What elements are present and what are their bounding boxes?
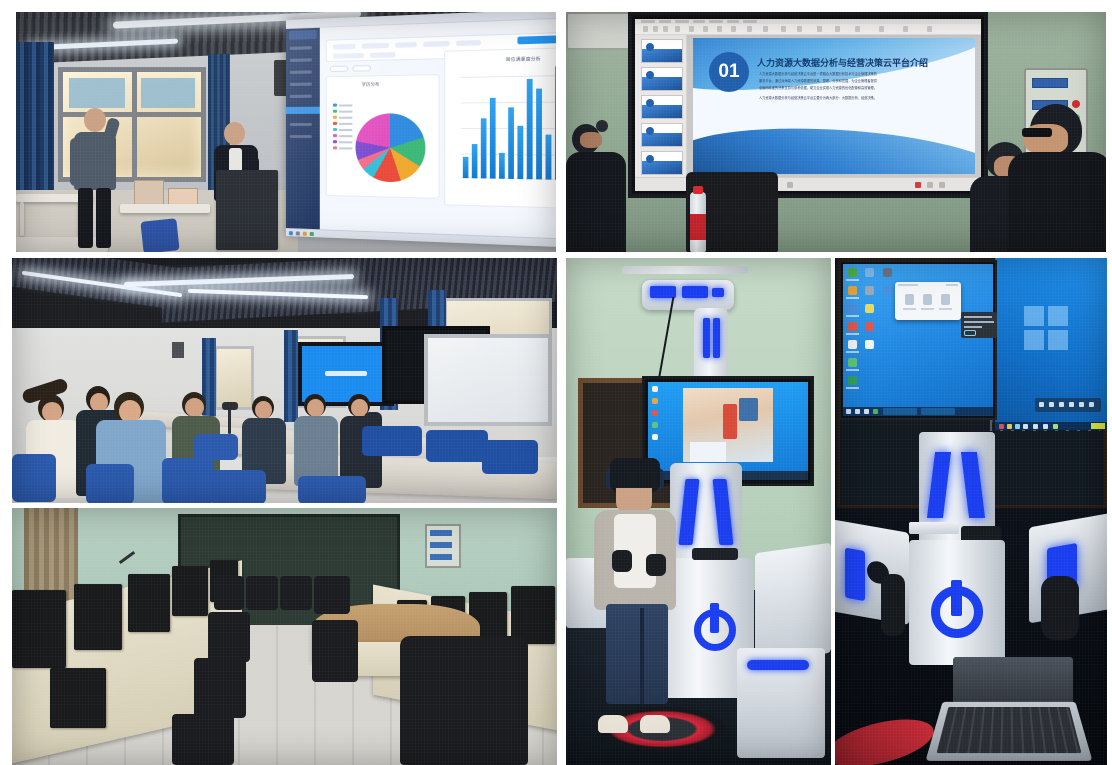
chair	[298, 476, 366, 503]
laptop[interactable]	[925, 702, 1092, 761]
photo-collage: 学历分布 岗位满意度分析	[0, 0, 1112, 765]
photo-seated-audience	[12, 258, 557, 503]
chair-foreground	[400, 636, 528, 765]
water-bottle	[690, 192, 706, 252]
current-slide: 01 人力资源大数据分析与经营决策云平台介绍 人力资源大数据分析与经营决策云平台…	[693, 38, 975, 174]
slide-thumbnail[interactable]	[641, 123, 683, 147]
taskbar-right	[995, 422, 1107, 430]
query-button[interactable]	[517, 35, 556, 44]
person-vr-user	[588, 458, 696, 733]
vr-boom-head	[642, 280, 734, 310]
photo-ppt-presentation: 01 人力资源大数据分析与经营决策云平台介绍 人力资源大数据分析与经营决策云平台…	[566, 12, 1106, 252]
pie-chart	[355, 113, 425, 182]
sidebar-item[interactable]	[290, 46, 312, 50]
blue-chair	[140, 218, 179, 252]
powerpoint-window: 01 人力资源大数据分析与经营决策云平台介绍 人力资源大数据分析与经营决策云平台…	[635, 19, 981, 191]
vr-mirror-view	[683, 388, 773, 462]
platform-right	[737, 648, 825, 758]
slide-body-line-2: 服务平台，通过对海量人力资源数据的采集、整理、分析和挖掘，为企业管理者提供	[759, 79, 961, 84]
photo-computer-lab	[12, 508, 557, 765]
chair	[280, 576, 312, 610]
sidebar-item[interactable]	[290, 83, 312, 86]
slide-body-line-3: 全面而精准的决策支持与参考依据，助力企业实现人力资源的优化配置和高效管理。	[759, 86, 961, 91]
camera	[596, 120, 608, 132]
dashboard-screen: 学历分布 岗位满意度分析	[286, 12, 556, 248]
vr-headset-hanging[interactable]	[1041, 576, 1079, 640]
chair	[214, 576, 244, 610]
sidebar-item[interactable]	[290, 95, 312, 98]
filter-pill[interactable]	[330, 66, 348, 73]
person-left	[566, 124, 638, 252]
slide-thumbnail[interactable]	[641, 39, 683, 63]
ceiling-rail	[622, 266, 748, 274]
person-presenter	[70, 108, 122, 248]
slide-stage: 01 人力资源大数据分析与经营决策云平台介绍 人力资源大数据分析与经营决策云平台…	[687, 35, 981, 177]
floating-toolbar[interactable]	[1035, 398, 1101, 412]
pie-chart-title: 学历分布	[362, 81, 380, 87]
microphone	[222, 402, 238, 410]
vr-setup-dialog[interactable]	[895, 282, 961, 320]
bar-chart-card: 岗位满意度分析	[444, 46, 556, 210]
sidebar-item-active[interactable]	[286, 107, 320, 114]
monitor	[12, 590, 66, 668]
chair	[312, 620, 358, 682]
chair	[172, 714, 234, 765]
vr-controller-left[interactable]	[612, 550, 632, 572]
windows-desktop	[843, 264, 993, 416]
filter-pill[interactable]	[352, 65, 371, 72]
chair	[194, 434, 238, 460]
eyeglasses	[1022, 128, 1052, 137]
vr-brand-logo	[931, 580, 983, 638]
windows-logo	[1024, 306, 1070, 352]
shoe	[640, 715, 670, 733]
slide-body-line-1: 人力资源大数据分析与经营决策云平台是一项融合大数据分析技术与企业管理决策的	[759, 72, 961, 77]
person-right	[1008, 104, 1106, 252]
dashboard-sidebar	[286, 28, 320, 230]
vr-brand-logo	[694, 603, 736, 651]
cardboard-box	[134, 180, 164, 206]
slide-thumbnail[interactable]	[641, 67, 683, 91]
tooltip-popup	[961, 312, 997, 338]
pie-chart-card: 学历分布	[326, 74, 440, 199]
slide-thumbnail-rail[interactable]	[635, 35, 687, 177]
controller-tray	[692, 548, 738, 560]
jeans	[606, 604, 668, 704]
slide-number: 01	[709, 52, 749, 92]
monitor	[74, 584, 122, 650]
desk-leg	[20, 202, 24, 236]
slide-title: 人力资源大数据分析与经营决策云平台介绍	[757, 56, 928, 69]
photo-classroom-dashboard: 学历分布 岗位满意度分析	[16, 12, 556, 252]
slide-thumbnail[interactable]	[641, 151, 683, 175]
sidebar-item[interactable]	[290, 58, 312, 62]
wall-display: 01 人力资源大数据分析与经营决策云平台介绍 人力资源大数据分析与经营决策云平台…	[628, 12, 988, 198]
vr-boom-arm	[694, 308, 728, 384]
keyboard[interactable]	[909, 522, 959, 534]
slide-thumbnail[interactable]	[641, 95, 683, 119]
app-logo	[289, 30, 317, 40]
bar-plot-area	[463, 65, 556, 180]
chair	[426, 430, 488, 462]
chair	[162, 458, 214, 503]
control-panel	[425, 524, 461, 568]
slide-body-line-4: 人力资源大数据分析与经营决策云平台主要分为两大部分：大数据分析、经营决策。	[759, 96, 961, 101]
person-6	[294, 394, 342, 486]
chair	[194, 658, 246, 718]
sidebar-item[interactable]	[290, 123, 312, 126]
display-right	[995, 258, 1107, 430]
chair	[314, 576, 350, 614]
sidebar-item[interactable]	[290, 135, 312, 138]
monitor	[128, 574, 170, 632]
vr-headset	[610, 458, 660, 492]
photo-vr-user	[566, 258, 831, 765]
chair	[210, 470, 266, 503]
chair	[208, 612, 250, 662]
monitor	[50, 668, 106, 728]
microphone-stand	[228, 408, 231, 434]
dashboard-body: 学历分布 岗位满意度分析	[320, 27, 556, 239]
whiteboard	[424, 334, 552, 426]
ppt-ribbon	[635, 19, 981, 35]
taskbar-left	[843, 407, 993, 416]
railing-right	[755, 543, 831, 664]
sidebar-item[interactable]	[290, 70, 312, 73]
display-left	[839, 260, 997, 420]
shoe	[598, 715, 628, 733]
chair	[12, 454, 56, 502]
vr-controller-right[interactable]	[646, 554, 666, 576]
wall-speaker	[172, 342, 184, 358]
controller-hanging[interactable]	[881, 574, 905, 636]
chair	[246, 576, 278, 610]
chair	[362, 426, 422, 456]
chair	[482, 440, 538, 474]
monitor	[172, 566, 208, 616]
photo-vr-station	[835, 258, 1107, 765]
chair	[86, 464, 134, 503]
bar-chart-title: 岗位满意度分析	[506, 56, 541, 63]
av-cabinet	[216, 170, 278, 250]
desk	[120, 204, 210, 213]
